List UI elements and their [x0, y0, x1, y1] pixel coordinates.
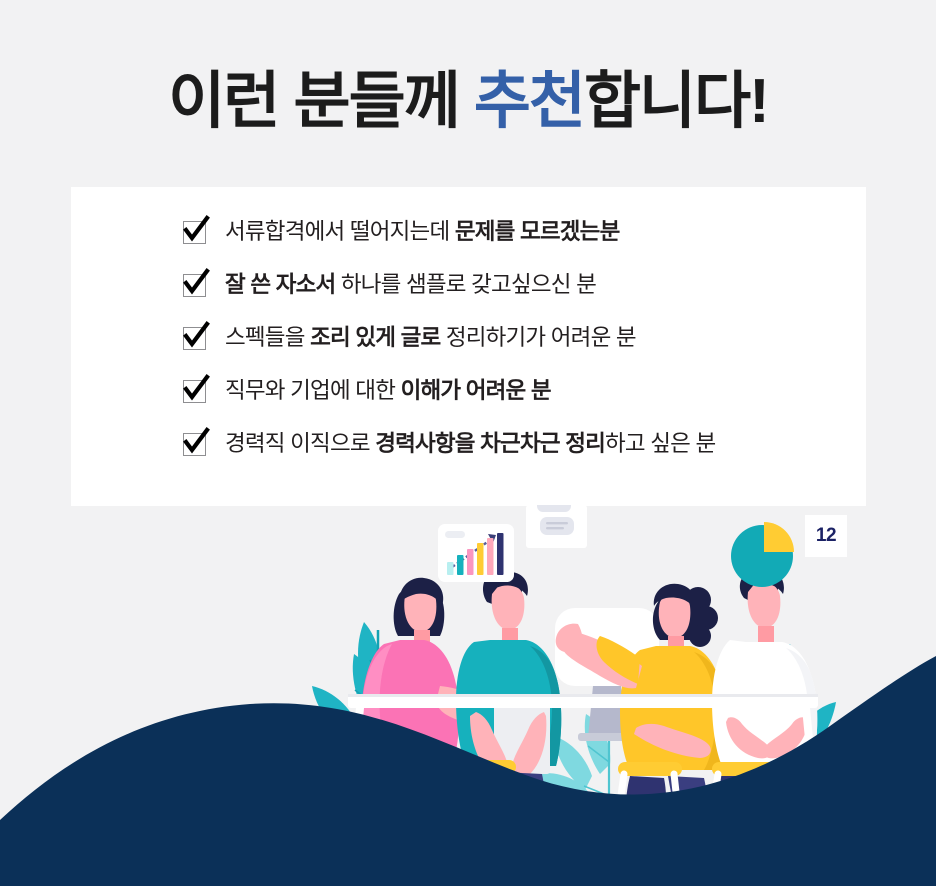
- list-item-text-normal-2: 정리하기가 어려운 분: [440, 325, 635, 350]
- document-card: [526, 505, 587, 548]
- checklist-panel: 서류합격에서 떨어지는데 문제를 모르겠는분 잘 쓴 자소서 하나를 샘플로 갖…: [71, 187, 866, 506]
- list-item-text: 경력직 이직으로 경력사항을 차근차근 정리하고 싶은 분: [225, 427, 715, 461]
- checklist: 서류합격에서 떨어지는데 문제를 모르겠는분 잘 쓴 자소서 하나를 샘플로 갖…: [183, 215, 846, 480]
- list-item-text-normal-1: 서류합격에서 떨어지는데: [225, 219, 455, 244]
- number-card-value: 12: [816, 525, 836, 547]
- list-item-text-normal-1: 스펙들을: [225, 325, 310, 350]
- list-item-text-bold: 문제를 모르겠는분: [455, 219, 620, 244]
- checkbox-checked-icon: [183, 380, 206, 403]
- list-item-text-normal-2: 하나를 샘플로 갖고싶으신 분: [335, 272, 596, 297]
- list-item-text: 서류합격에서 떨어지는데 문제를 모르겠는분: [225, 215, 619, 249]
- list-item: 잘 쓴 자소서 하나를 샘플로 갖고싶으신 분: [183, 268, 846, 321]
- document-lines-icon: [526, 505, 587, 548]
- list-item-text: 직무와 기업에 대한 이해가 어려운 분: [225, 374, 551, 408]
- page-title-after: 합니다!: [584, 67, 768, 136]
- bar-chart-card: [438, 524, 514, 582]
- list-item-text: 잘 쓴 자소서 하나를 샘플로 갖고싶으신 분: [225, 268, 596, 302]
- bar-chart-icon: [438, 524, 514, 582]
- list-item-text-normal-2: 하고 싶은 분: [605, 431, 715, 456]
- list-item: 스펙들을 조리 있게 글로 정리하기가 어려운 분: [183, 321, 846, 374]
- pie-chart-icon: [726, 516, 798, 588]
- list-item-text-bold: 조리 있게 글로: [310, 325, 440, 350]
- checkbox-checked-icon: [183, 327, 206, 350]
- number-card: 12: [805, 515, 847, 557]
- list-item-text-normal-1: 경력직 이직으로: [225, 431, 375, 456]
- page-title-before: 이런 분들께: [168, 67, 474, 136]
- checkbox-checked-icon: [183, 274, 206, 297]
- list-item: 경력직 이직으로 경력사항을 차근차근 정리하고 싶은 분: [183, 427, 846, 480]
- page-title: 이런 분들께 추천합니다!: [0, 68, 936, 136]
- list-item-text-bold: 이해가 어려운 분: [401, 378, 551, 403]
- checkbox-checked-icon: [183, 221, 206, 244]
- list-item-text-bold: 잘 쓴 자소서: [225, 272, 335, 297]
- page-title-accent: 추천: [474, 67, 584, 136]
- checkbox-checked-icon: [183, 433, 206, 456]
- poster-canvas: 이런 분들께 추천합니다! 서류합격에서 떨어지는데 문제를 모르겠는분 잘 쓴: [0, 0, 936, 886]
- list-item: 서류합격에서 떨어지는데 문제를 모르겠는분: [183, 215, 846, 268]
- list-item-text: 스펙들을 조리 있게 글로 정리하기가 어려운 분: [225, 321, 636, 355]
- pie-chart: [726, 516, 798, 588]
- list-item-text-normal-1: 직무와 기업에 대한: [225, 378, 401, 403]
- list-item: 직무와 기업에 대한 이해가 어려운 분: [183, 374, 846, 427]
- list-item-text-bold: 경력사항을 차근차근 정리: [375, 431, 605, 456]
